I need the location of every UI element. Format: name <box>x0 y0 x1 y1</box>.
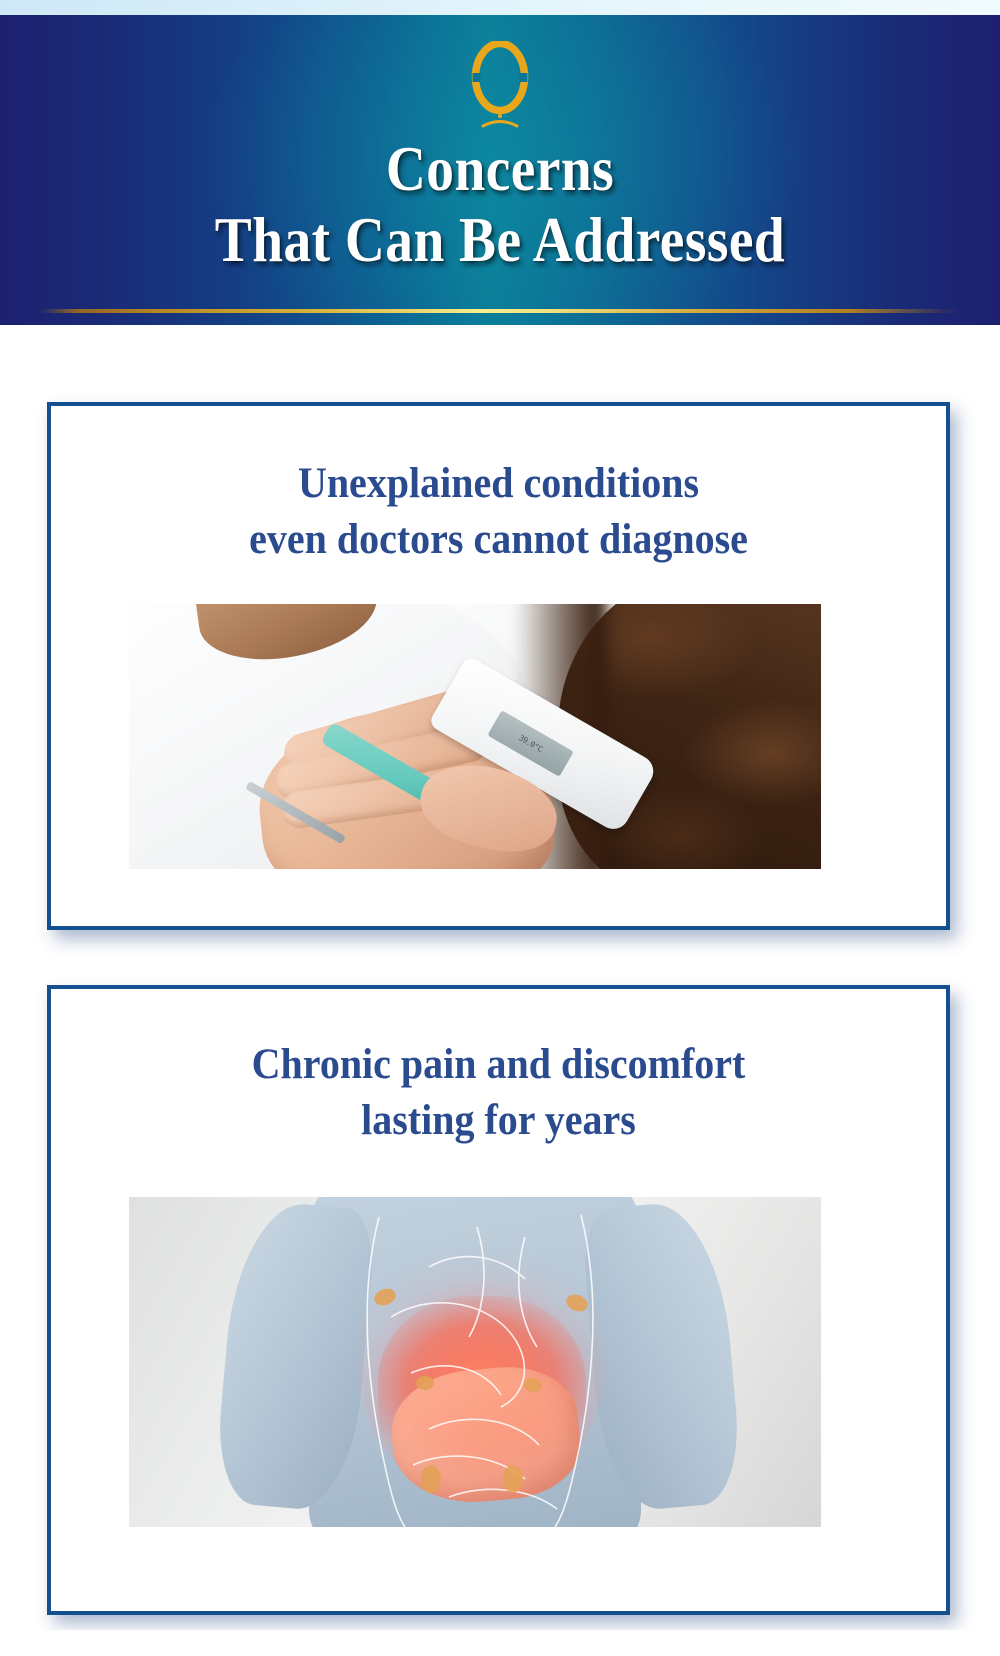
concern-card-unexplained-conditions[interactable]: Unexplained conditions even doctors cann… <box>47 402 950 930</box>
photo-thermometer: 39.0°C <box>129 604 821 869</box>
card-1-title-line-1: Unexplained conditions <box>105 456 893 512</box>
header-banner: Concerns That Can Be Addressed <box>0 15 1000 325</box>
photo-abdominal-pain <box>129 1197 821 1527</box>
bottom-spacer <box>0 1630 1000 1656</box>
gold-divider-rule <box>40 309 960 313</box>
card-1-title-line-2: even doctors cannot diagnose <box>105 512 893 568</box>
photo-thermometer-reading: 39.0°C <box>517 733 544 754</box>
brand-logo <box>0 41 1000 141</box>
card-2-title-line-2: lasting for years <box>105 1093 893 1149</box>
photo-abdominal-intestine-lines <box>129 1197 821 1527</box>
card-2-title: Chronic pain and discomfort lasting for … <box>82 1037 914 1149</box>
header-title-line-2: That Can Be Addressed <box>60 208 940 272</box>
header-title-line-1: Concerns <box>60 137 940 201</box>
top-accent-strip <box>0 0 1000 15</box>
header-title-group: Concerns That Can Be Addressed <box>0 137 1000 273</box>
monogram-o-logo-icon <box>465 41 535 137</box>
card-1-title: Unexplained conditions even doctors cann… <box>82 456 914 568</box>
card-2-title-line-1: Chronic pain and discomfort <box>105 1037 893 1093</box>
concern-card-chronic-pain[interactable]: Chronic pain and discomfort lasting for … <box>47 985 950 1615</box>
